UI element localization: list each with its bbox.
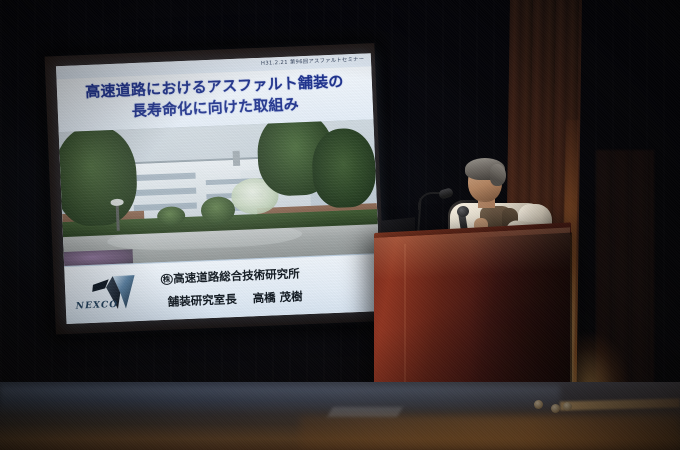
slide-photo-building (59, 119, 379, 268)
presentation-slide: H31.2.21 第96回アスファルトセミナー 高速道路におけるアスファルト舗装… (56, 53, 381, 324)
slide-organization: 株高速道路総合技術研究所 (160, 262, 375, 287)
stage-floor-sheen (0, 386, 560, 412)
speaker-hair-side (490, 164, 506, 186)
organization-name: 高速道路総合技術研究所 (173, 266, 300, 285)
speaker-name: 高橋 茂樹 (252, 289, 303, 305)
slide-title: 高速道路におけるアスファルト舗装の 長寿命化に向けた取組み (57, 70, 373, 125)
stage-floor-marking (327, 407, 402, 417)
slide-speaker-line: 舗装研究室長 高橋 茂樹 (167, 285, 376, 310)
organization-prefix: 株 (161, 274, 173, 285)
floor-object (534, 400, 543, 409)
nexco-wordmark: NEXCO (76, 300, 119, 312)
slide-header-text: H31.2.21 第96回アスファルトセミナー (261, 56, 364, 67)
floor-object (551, 404, 560, 413)
projection-screen: H31.2.21 第96回アスファルトセミナー 高速道路におけるアスファルト舗装… (24, 29, 396, 344)
speaker-title: 舗装研究室長 (167, 292, 237, 309)
floor-object (563, 402, 572, 411)
nexco-logo: NEXCO (72, 270, 152, 318)
photo-scene: H31.2.21 第96回アスファルトセミナー 高速道路におけるアスファルト舗装… (0, 0, 680, 450)
building-chimney (233, 151, 241, 166)
stage-floor-warm-light (300, 416, 680, 450)
